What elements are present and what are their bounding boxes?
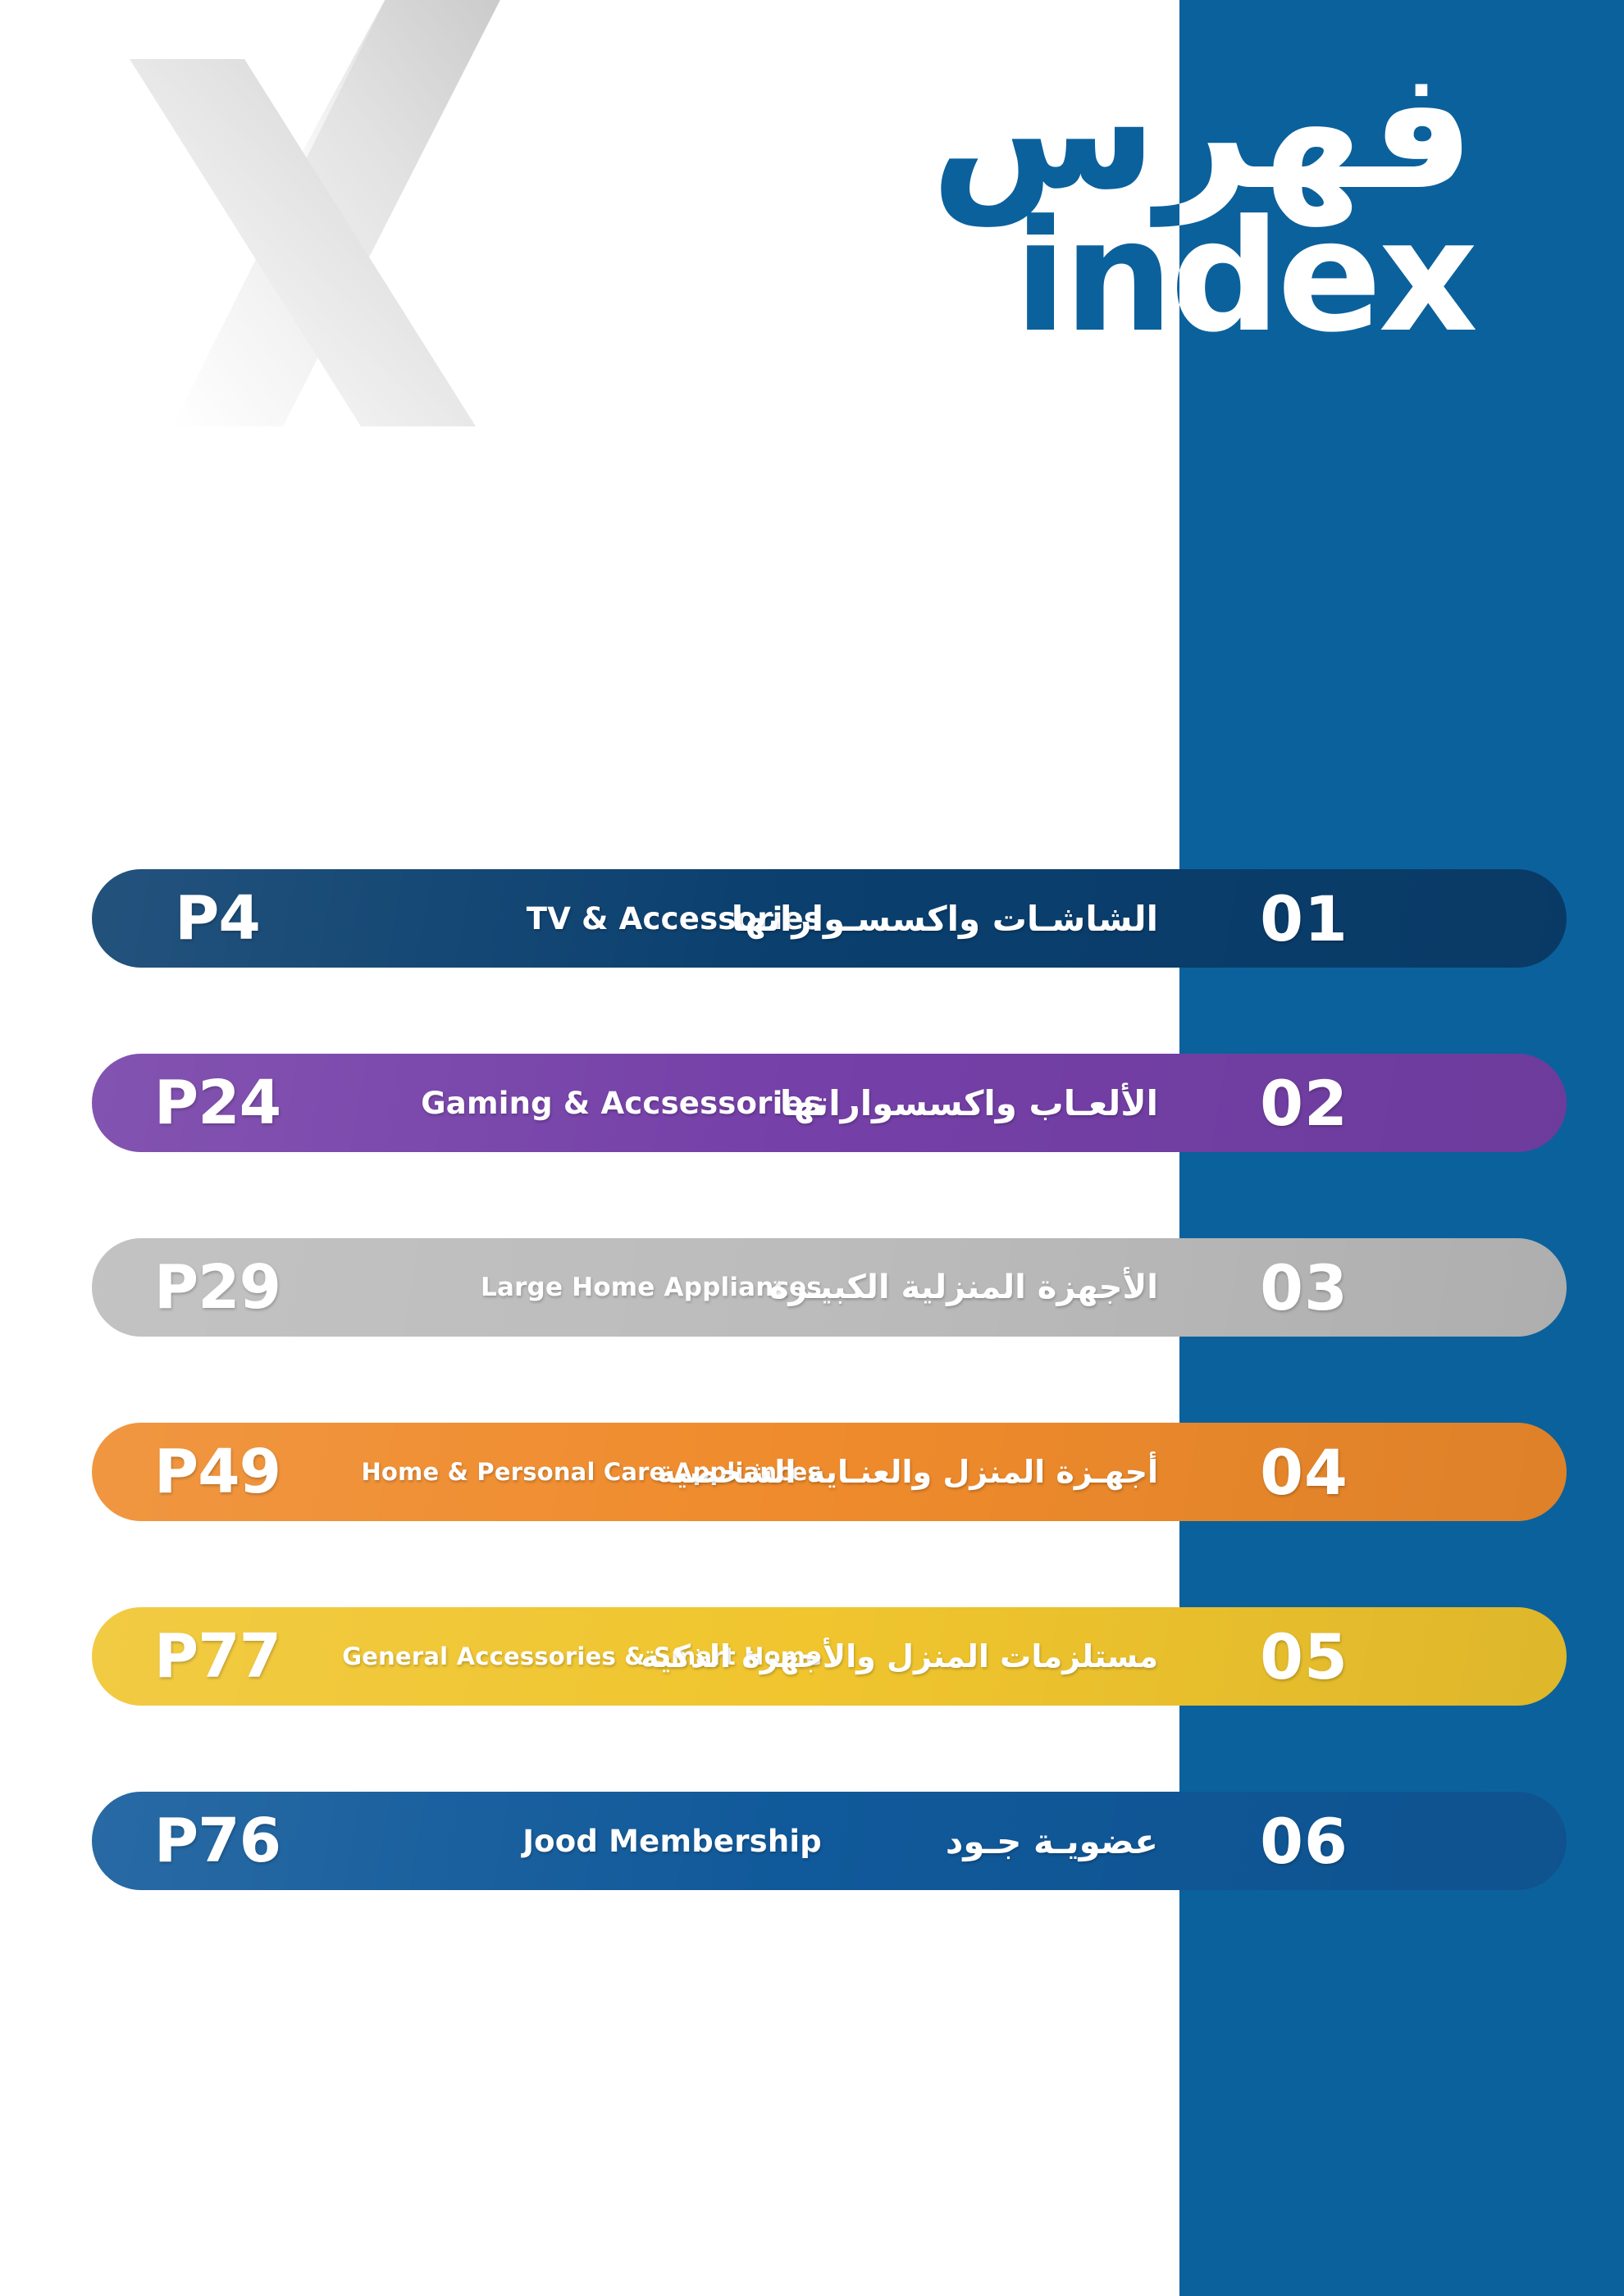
index-row-title-english: Jood Membership [522,1792,822,1890]
index-row-number: 03 [1214,1238,1394,1337]
index-row[interactable]: P77 General Accessories & Smart Home مست… [0,1607,1624,1706]
index-row-title-arabic: الشاشـات واكسسـواراتها [732,869,1158,968]
index-row-title-arabic: أجهـزة المنزل والعنـاية الشخصية [657,1423,1158,1521]
index-row-pill[interactable]: P24 Gaming & Accsessories الألعـاب واكسس… [92,1054,1567,1152]
index-row[interactable]: P76 Jood Membership عضويـة جـود 06 [0,1792,1624,1890]
index-row-page: P77 [123,1607,312,1706]
index-row-page: P4 [123,869,312,968]
index-row-number: 06 [1214,1792,1394,1890]
index-row[interactable]: P29 Large Home Appliances الأجهزة المنزل… [0,1238,1624,1337]
index-row[interactable]: P24 Gaming & Accsessories الألعـاب واكسس… [0,1054,1624,1152]
index-row-pill[interactable]: P49 Home & Personal Care Appliances أجهـ… [92,1423,1567,1521]
index-row-title-arabic: مستلزمات المنزل والأجهزة الذكية [641,1607,1158,1706]
index-row-title-arabic: عضويـة جـود [946,1792,1158,1890]
index-row-number: 01 [1214,869,1394,968]
index-row-page: P24 [123,1054,312,1152]
index-row-pill[interactable]: P76 Jood Membership عضويـة جـود 06 [92,1792,1567,1890]
index-row-pill[interactable]: P4 TV & Accessories الشاشـات واكسسـوارات… [92,869,1567,968]
page-title: فهرس index فهرس index [0,48,1624,507]
index-row-page: P29 [123,1238,312,1337]
index-row-page: P49 [123,1423,312,1521]
index-row-number: 05 [1214,1607,1394,1706]
index-row[interactable]: P49 Home & Personal Care Appliances أجهـ… [0,1423,1624,1521]
index-row-pill[interactable]: P77 General Accessories & Smart Home مست… [92,1607,1567,1706]
index-row-list: P4 TV & Accessories الشاشـات واكسسـوارات… [0,869,1624,1976]
index-row-page: P76 [123,1792,312,1890]
index-row[interactable]: P4 TV & Accessories الشاشـات واكسسـوارات… [0,869,1624,968]
index-row-title-arabic: الأجهزة المنزلية الكبيـرة [769,1238,1158,1337]
index-row-title-english: Gaming & Accsessories [421,1054,822,1152]
index-page: فهرس index فهرس index P4 TV & Accessorie… [0,0,1624,2296]
index-row-number: 02 [1214,1054,1394,1152]
index-row-title-arabic: الألعـاب واكسسواراتها [780,1054,1158,1152]
index-row-number: 04 [1214,1423,1394,1521]
index-row-pill[interactable]: P29 Large Home Appliances الأجهزة المنزل… [92,1238,1567,1337]
